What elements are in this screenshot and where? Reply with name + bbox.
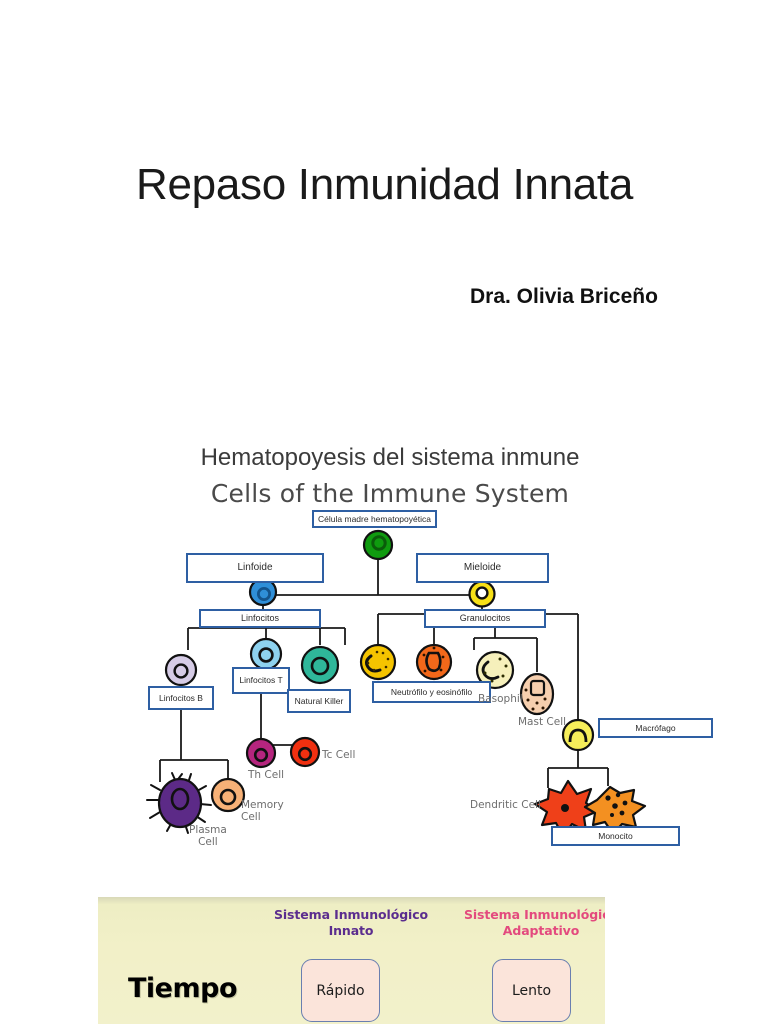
cell-myeloid-progenitor bbox=[470, 582, 495, 607]
cell-tc-cell bbox=[291, 738, 319, 766]
diagram-box-macrophage[interactable]: Macrófago bbox=[598, 718, 713, 738]
diagram-box-stem-cell[interactable]: Célula madre hematopoyética bbox=[312, 510, 437, 528]
diagram-caption-memory-cell: Memory Cell bbox=[241, 800, 284, 824]
diagram-caption-plasma-cell: Plasma Cell bbox=[189, 825, 227, 849]
panel-row-label-tiempo: Tiempo bbox=[128, 973, 237, 1004]
diagram-box-lymphocytes[interactable]: Linfocitos bbox=[199, 609, 321, 628]
panel-cell-adaptive-time[interactable]: Lento bbox=[492, 959, 571, 1022]
diagram-caption-tc-cell: Tc Cell bbox=[322, 750, 355, 762]
cell-mast-cell bbox=[521, 674, 553, 714]
slide-canvas: Repaso Inmunidad Innata Dra. Olivia Bric… bbox=[0, 0, 768, 1024]
panel-cell-innate-time[interactable]: Rápido bbox=[301, 959, 380, 1022]
panel-header-innate: Sistema Inmunológico Innato bbox=[256, 907, 446, 938]
diagram-box-natural-killer[interactable]: Natural Killer bbox=[287, 689, 351, 713]
panel-header-adaptive: Sistema Inmunológico Adaptativo bbox=[446, 907, 605, 938]
diagram-caption-basophil: Basophil bbox=[478, 694, 523, 706]
diagram-caption-dendritic-cell: Dendritic Cell bbox=[470, 800, 541, 812]
cell-memory-cell bbox=[212, 779, 244, 811]
diagram-box-monocyte[interactable]: Monocito bbox=[551, 826, 680, 846]
diagram-box-neutrophil-eosinophil[interactable]: Neutrófilo y eosinófilo bbox=[372, 681, 491, 703]
diagram-box-myeloid[interactable]: Mieloide bbox=[416, 553, 549, 583]
immune-comparison-panel: Tiempo Sistema Inmunológico Innato Siste… bbox=[98, 897, 605, 1024]
diagram-box-t-lymphocytes[interactable]: Linfocitos T bbox=[232, 667, 290, 694]
diagram-box-lymphoid[interactable]: Linfoide bbox=[186, 553, 324, 583]
cell-b-lymphocyte bbox=[166, 655, 196, 685]
diagram-box-granulocytes[interactable]: Granulocitos bbox=[424, 609, 546, 628]
hematopoiesis-diagram: Célula madre hematopoyética Linfoide Mie… bbox=[0, 0, 768, 1024]
cell-macrophage bbox=[563, 720, 593, 750]
cell-natural-killer bbox=[302, 647, 338, 683]
cell-neutrophil bbox=[361, 645, 395, 679]
cell-eosinophil bbox=[417, 645, 451, 679]
diagram-box-b-lymphocytes[interactable]: Linfocitos B bbox=[148, 686, 214, 710]
diagram-caption-mast-cell: Mast Cell bbox=[518, 717, 566, 729]
cell-th-cell bbox=[247, 739, 275, 767]
cell-stem-cell bbox=[364, 531, 392, 559]
diagram-caption-th-cell: Th Cell bbox=[248, 770, 284, 782]
cell-t-lymphocyte bbox=[251, 639, 281, 669]
